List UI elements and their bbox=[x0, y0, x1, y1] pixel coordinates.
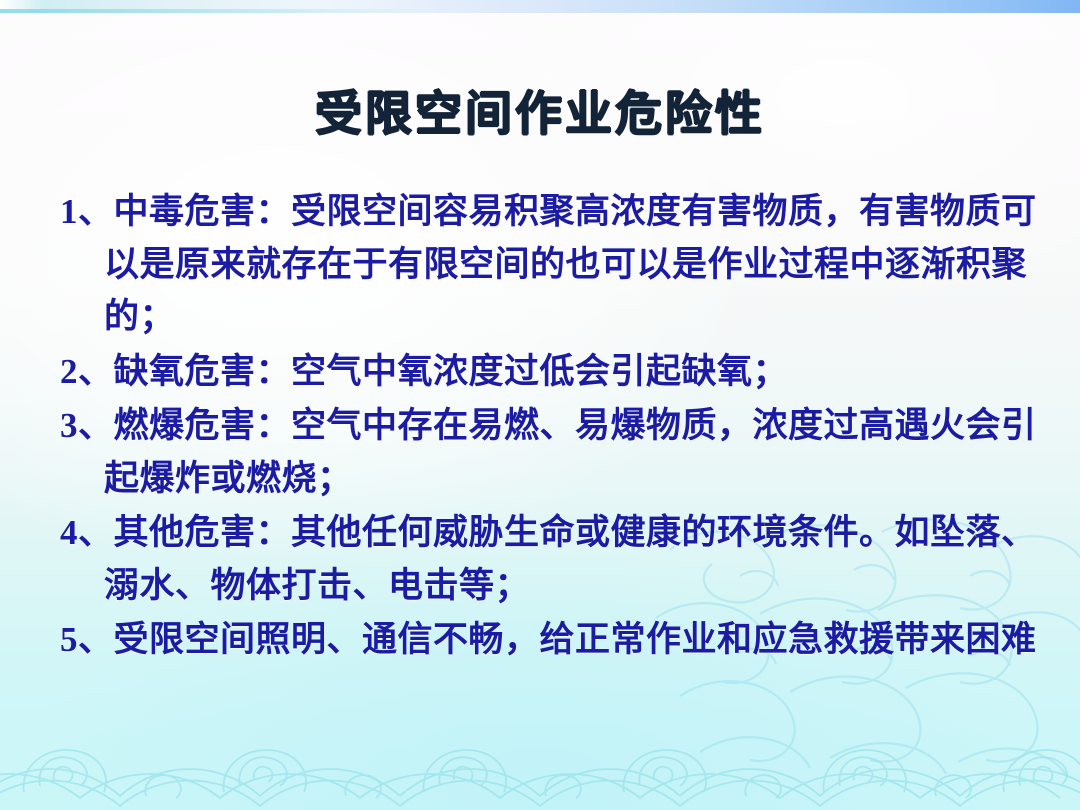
sea-wave-pattern-icon bbox=[0, 700, 1080, 810]
hazard-list: 1、中毒危害：受限空间容易积聚高浓度有害物质，有害物质可以是原来就存在于有限空间… bbox=[60, 186, 1065, 669]
list-item-text: 5、受限空间照明、通信不畅，给正常作业和应急救援带来困难 bbox=[60, 614, 1065, 667]
list-item-text: 2、缺氧危害：空气中氧浓度过低会引起缺氧； bbox=[60, 346, 1065, 399]
list-item-text: 4、其他危害：其他任何威胁生命或健康的环境条件。如坠落、溺水、物体打击、电击等； bbox=[60, 507, 1065, 612]
list-item-text: 3、燃爆危害：空气中存在易燃、易爆物质，浓度过高遇火会引起爆炸或燃烧； bbox=[60, 400, 1065, 505]
list-item: 2、缺氧危害：空气中氧浓度过低会引起缺氧； bbox=[60, 346, 1065, 399]
page-title: 受限空间作业危险性 bbox=[0, 75, 1080, 144]
list-item: 1、中毒危害：受限空间容易积聚高浓度有害物质，有害物质可以是原来就存在于有限空间… bbox=[60, 186, 1065, 344]
list-item: 5、受限空间照明、通信不畅，给正常作业和应急救援带来困难 bbox=[60, 614, 1065, 667]
presentation-slide: 受限空间作业危险性 1、中毒危害：受限空间容易积聚高浓度有害物质，有害物质可以是… bbox=[0, 0, 1080, 810]
top-accent-band bbox=[0, 0, 1080, 13]
list-item: 3、燃爆危害：空气中存在易燃、易爆物质，浓度过高遇火会引起爆炸或燃烧； bbox=[60, 400, 1065, 505]
list-item-text: 1、中毒危害：受限空间容易积聚高浓度有害物质，有害物质可以是原来就存在于有限空间… bbox=[60, 186, 1065, 344]
list-item: 4、其他危害：其他任何威胁生命或健康的环境条件。如坠落、溺水、物体打击、电击等； bbox=[60, 507, 1065, 612]
